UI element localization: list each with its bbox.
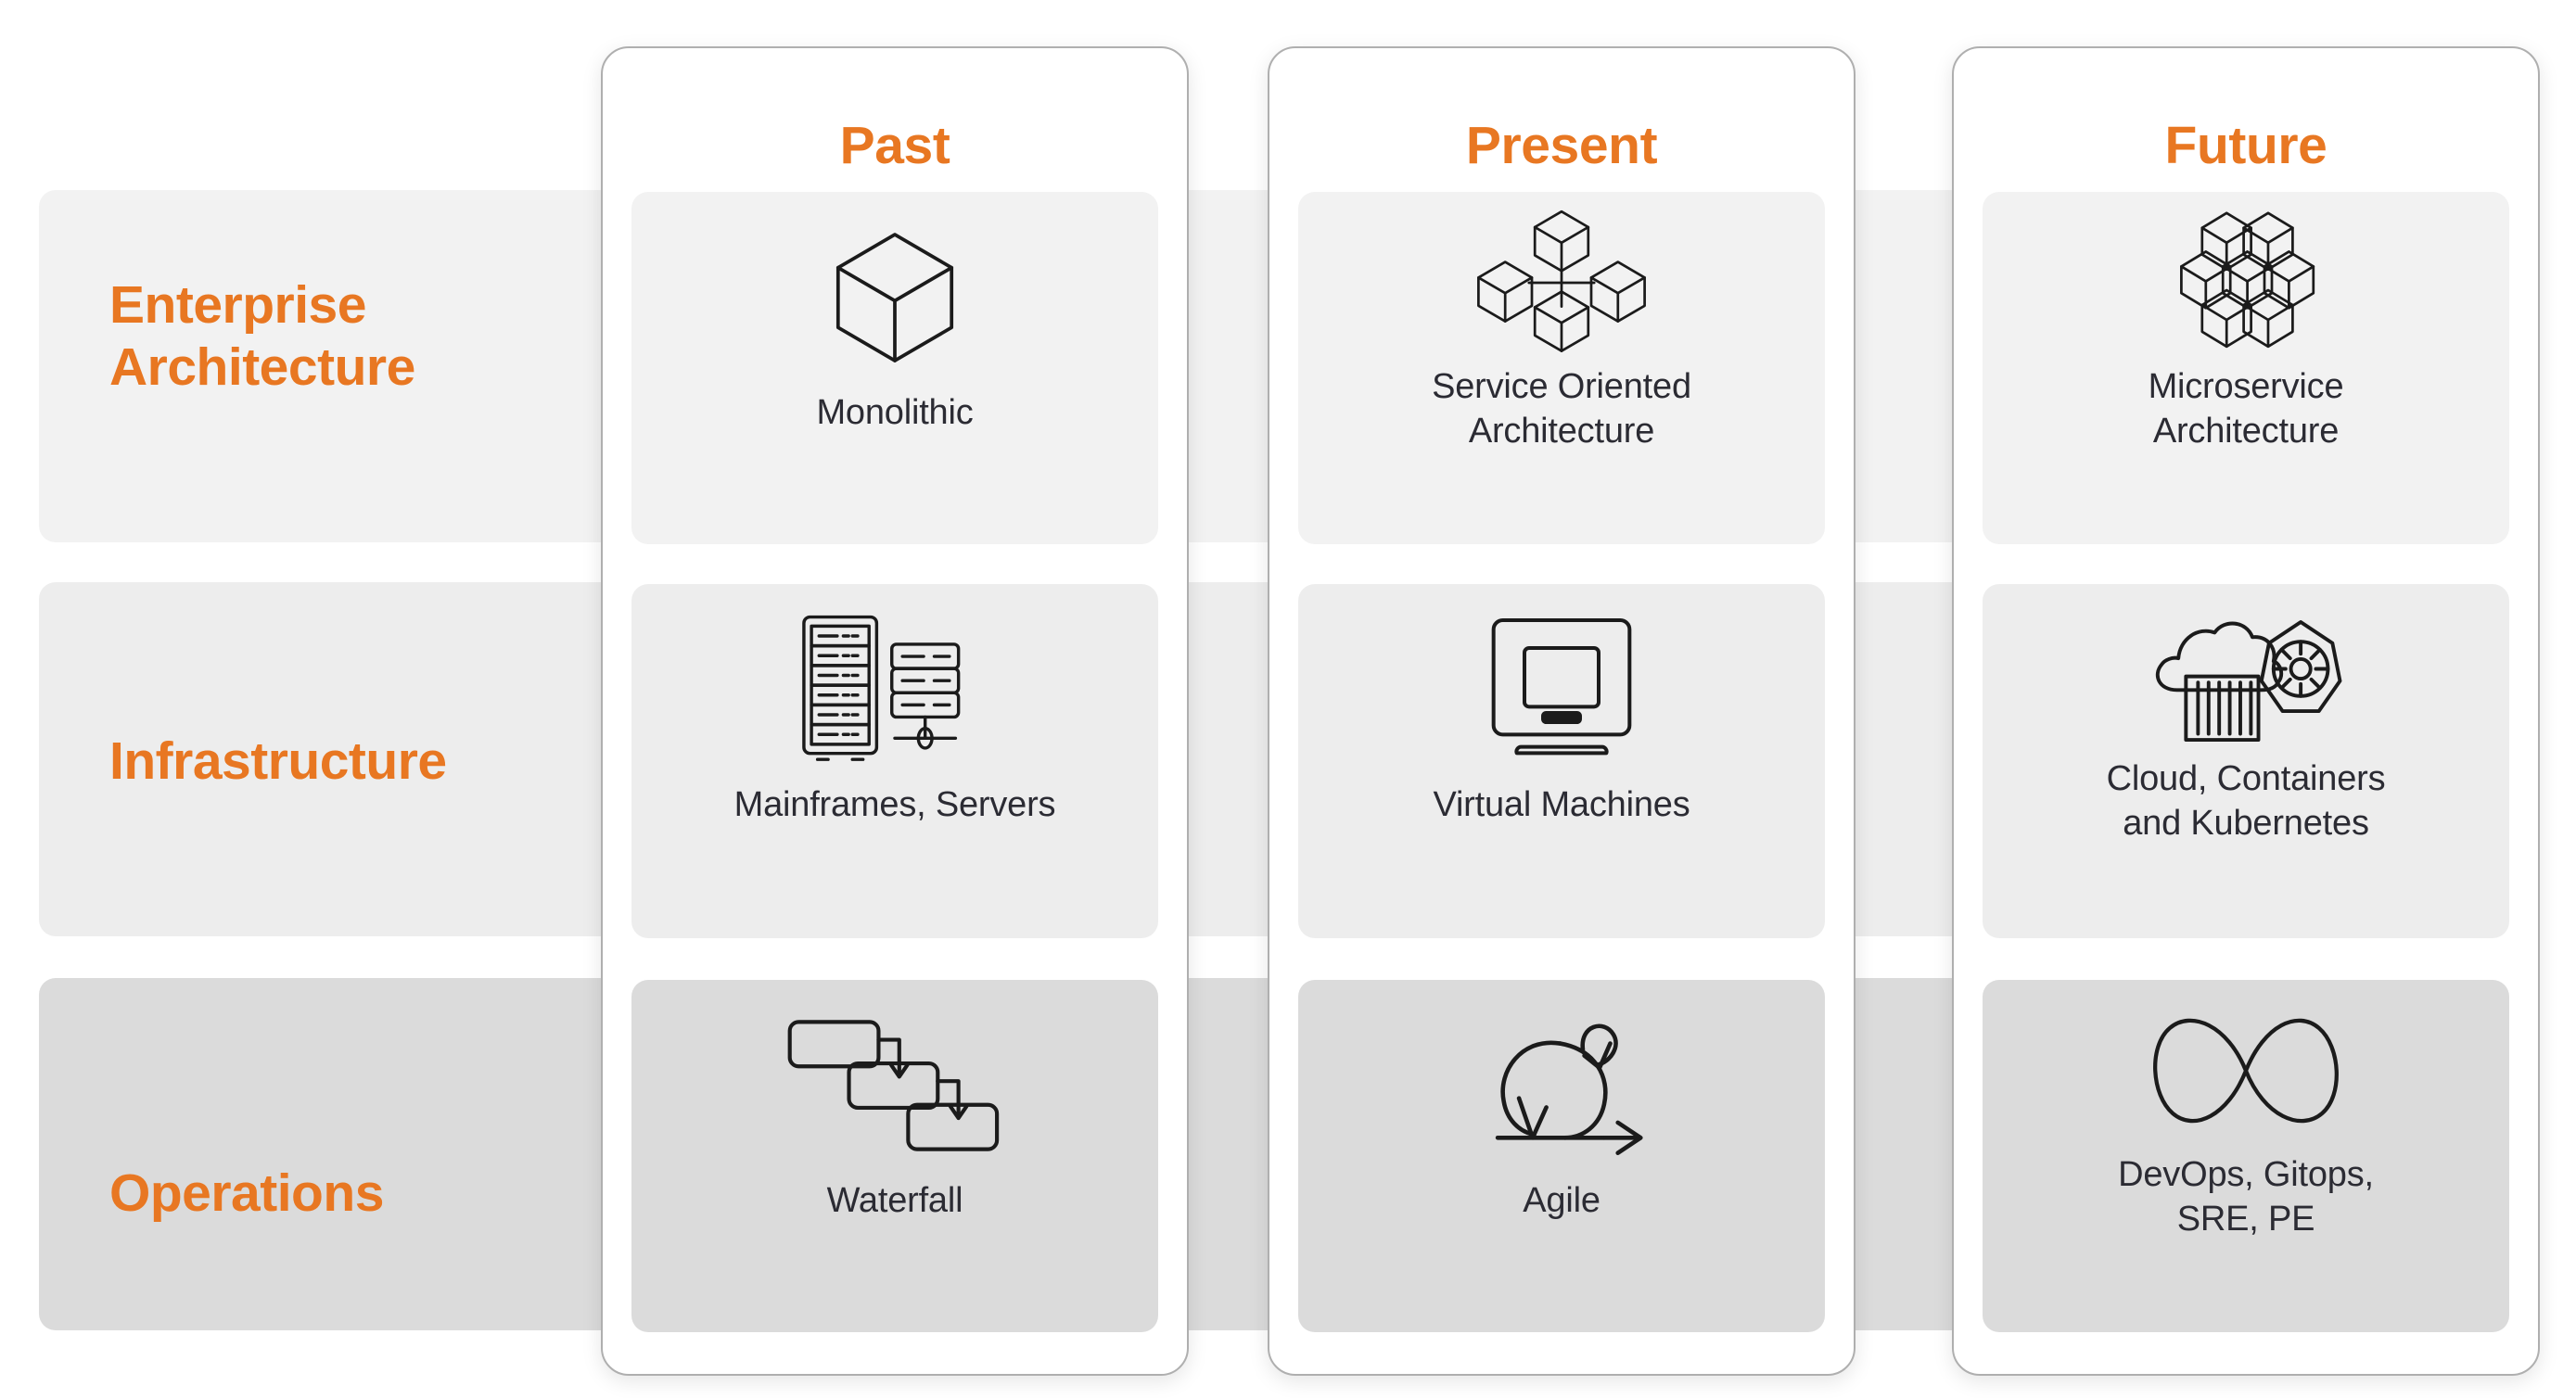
cell-past-infrastructure[interactable]: Mainframes, Servers (631, 584, 1158, 938)
cell-label: Cloud, Containers and Kubernetes (2094, 756, 2399, 846)
column-title-future: Future (1954, 115, 2538, 176)
cell-label-line-2: Architecture (2149, 409, 2344, 453)
cell-label: Mainframes, Servers (721, 782, 1069, 827)
cell-label: Waterfall (814, 1178, 976, 1223)
infinity-icon (1983, 989, 2509, 1152)
cell-present-enterprise-architecture[interactable]: Service Oriented Architecture (1298, 192, 1825, 544)
cell-label: Microservice Architecture (2136, 364, 2357, 454)
cell-label-line-1: Agile (1523, 1178, 1600, 1223)
cell-label-line-2: SRE, PE (2118, 1197, 2374, 1241)
cell-label-line-1: DevOps, Gitops, (2118, 1152, 2374, 1197)
cell-label-line-1: Service Oriented (1432, 364, 1691, 409)
cell-label: Virtual Machines (1420, 782, 1702, 827)
server-rack-icon (631, 597, 1158, 782)
cell-label: DevOps, Gitops, SRE, PE (2105, 1152, 2387, 1242)
cell-present-operations[interactable]: Agile (1298, 980, 1825, 1332)
column-card-present[interactable]: Present (1268, 46, 1855, 1376)
cell-label: Monolithic (803, 390, 986, 435)
cell-future-enterprise-architecture[interactable]: Microservice Architecture (1983, 192, 2509, 544)
single-cube-icon (631, 205, 1158, 390)
row-label-line-1: Enterprise (109, 274, 555, 337)
cell-label-line-1: Mainframes, Servers (734, 782, 1056, 827)
column-card-future[interactable]: Future (1952, 46, 2540, 1376)
row-label-operations: Operations (109, 1163, 555, 1225)
row-label-line-2: Architecture (109, 337, 555, 399)
cell-label-line-2: and Kubernetes (2107, 801, 2386, 845)
cell-past-enterprise-architecture[interactable]: Monolithic (631, 192, 1158, 544)
cell-label-line-1: Waterfall (827, 1178, 963, 1223)
agile-loop-icon (1298, 993, 1825, 1178)
cell-label-line-1: Virtual Machines (1433, 782, 1690, 827)
column-title-past: Past (603, 115, 1187, 176)
connected-cubes-icon (1298, 201, 1825, 364)
row-label-line-1: Operations (109, 1163, 555, 1225)
cloud-container-kubernetes-icon (1983, 593, 2509, 756)
row-label-line-1: Infrastructure (109, 731, 555, 793)
matrix-canvas: Enterprise Architecture Infrastructure O… (0, 0, 2576, 1398)
cell-past-operations[interactable]: Waterfall (631, 980, 1158, 1332)
cube-cluster-icon (1983, 201, 2509, 364)
cell-future-operations[interactable]: DevOps, Gitops, SRE, PE (1983, 980, 2509, 1332)
column-card-past[interactable]: Past Monolithic (601, 46, 1189, 1376)
cell-label: Agile (1510, 1178, 1613, 1223)
row-label-enterprise-architecture: Enterprise Architecture (109, 274, 555, 398)
cell-present-infrastructure[interactable]: Virtual Machines (1298, 584, 1825, 938)
cell-label-line-1: Monolithic (816, 390, 973, 435)
monitor-icon (1298, 597, 1825, 782)
cell-label-line-2: Architecture (1432, 409, 1691, 453)
cell-label-line-1: Cloud, Containers (2107, 756, 2386, 801)
cell-label: Service Oriented Architecture (1419, 364, 1704, 454)
waterfall-steps-icon (631, 993, 1158, 1178)
cell-label-line-1: Microservice (2149, 364, 2344, 409)
row-label-infrastructure: Infrastructure (109, 731, 555, 793)
column-title-present: Present (1269, 115, 1854, 176)
cell-future-infrastructure[interactable]: Cloud, Containers and Kubernetes (1983, 584, 2509, 938)
